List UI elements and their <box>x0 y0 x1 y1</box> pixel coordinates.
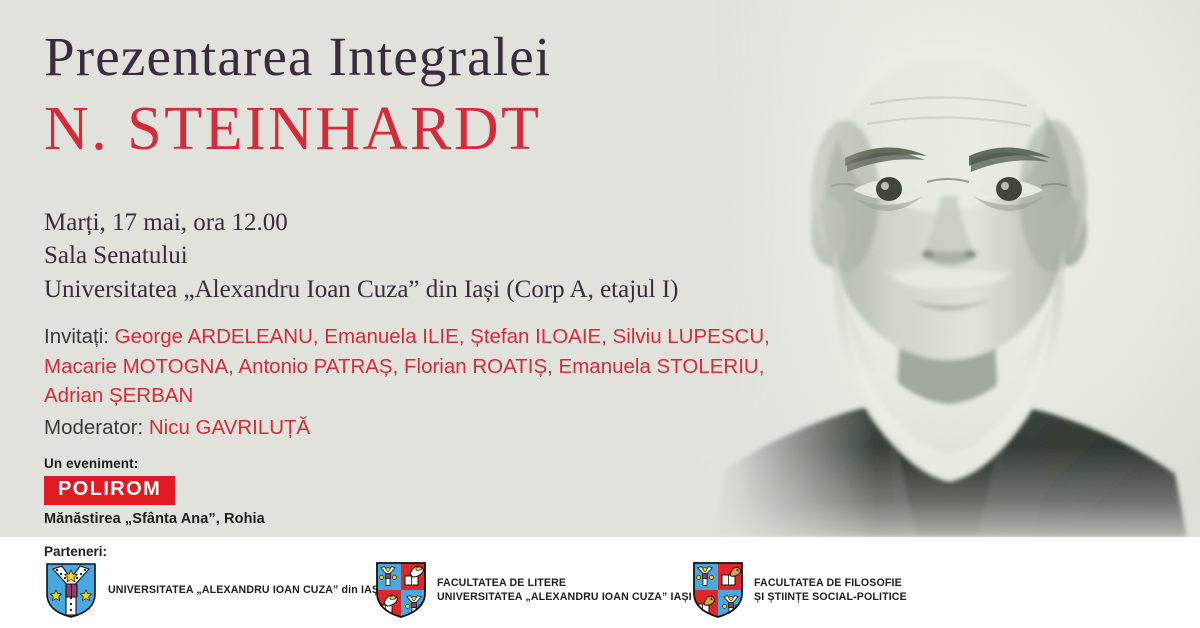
organiser-block: Un eveniment: POLIROM Mănăstirea „Sfânta… <box>44 456 265 527</box>
guests-line-2: Macarie MOTOGNA, Antonio PATRAȘ, Florian… <box>44 352 774 382</box>
uaic-coat-of-arms-icon <box>44 561 98 619</box>
participants-block: Invitați: George ARDELEANU, Emanuela ILI… <box>44 322 774 443</box>
organiser-kicker: Un eveniment: <box>44 456 265 471</box>
guests-names-1: George ARDELEANU, Emanuela ILIE, Ștefan … <box>115 325 770 348</box>
moderator-line: Moderator: Nicu GAVRILUȚĂ <box>44 413 774 443</box>
portrait-photo <box>695 0 1200 537</box>
partner-logo-philosophy: FACULTATEA DE FILOSOFIE ȘI ȘTIINȚE SOCIA… <box>692 561 907 619</box>
partner-philosophy-line1: FACULTATEA DE FILOSOFIE <box>754 577 902 589</box>
partner-logo-letters: FACULTATEA DE LITERE UNIVERSITATEA „ALEX… <box>375 561 692 619</box>
moderator-label: Moderator: <box>44 416 143 439</box>
guests-line-3: Adrian ȘERBAN <box>44 381 774 411</box>
partner-letters-text: FACULTATEA DE LITERE UNIVERSITATEA „ALEX… <box>437 576 692 604</box>
partner-uaic-text: UNIVERSITATEA „ALEXANDRU IOAN CUZA” din … <box>108 583 382 597</box>
poster-main-panel: Prezentarea Integralei N. STEINHARDT Mar… <box>0 0 1200 537</box>
event-details: Marți, 17 mai, ora 12.00 Sala Senatului … <box>44 206 679 306</box>
partner-letters-line1: FACULTATEA DE LITERE <box>437 577 566 589</box>
event-datetime: Marți, 17 mai, ora 12.00 <box>44 206 679 239</box>
guests-names-2: Macarie MOTOGNA, Antonio PATRAȘ, Florian… <box>44 355 764 378</box>
partner-uaic-line1: UNIVERSITATEA „ALEXANDRU IOAN CUZA” din … <box>108 584 382 596</box>
polirom-logo: POLIROM <box>44 476 175 505</box>
page-title-line2: N. STEINHARDT <box>44 98 541 160</box>
partner-philosophy-text: FACULTATEA DE FILOSOFIE ȘI ȘTIINȚE SOCIA… <box>754 576 907 604</box>
partners-label: Parteneri: <box>44 544 107 559</box>
guests-names-3: Adrian ȘERBAN <box>44 384 193 407</box>
faculty-of-letters-coat-of-arms-icon <box>375 561 427 619</box>
guests-label: Invitați: <box>44 325 109 348</box>
faculty-of-philosophy-coat-of-arms-icon <box>692 561 744 619</box>
page-title-line1: Prezentarea Integralei <box>44 29 551 84</box>
partners-footer: Parteneri: <box>0 537 1200 628</box>
event-address: Universitatea „Alexandru Ioan Cuza” din … <box>44 273 679 306</box>
partner-letters-line2: UNIVERSITATEA „ALEXANDRU IOAN CUZA” IAȘI <box>437 591 692 603</box>
event-venue: Sala Senatului <box>44 239 679 272</box>
poster-canvas: Prezentarea Integralei N. STEINHARDT Mar… <box>0 0 1200 628</box>
partner-logo-uaic: UNIVERSITATEA „ALEXANDRU IOAN CUZA” din … <box>44 561 382 619</box>
guests-line-1: Invitați: George ARDELEANU, Emanuela ILI… <box>44 322 774 352</box>
partner-philosophy-line2: ȘI ȘTIINȚE SOCIAL-POLITICE <box>754 591 907 603</box>
moderator-name: Nicu GAVRILUȚĂ <box>149 416 310 439</box>
co-organiser: Mănăstirea „Sfânta Ana”, Rohia <box>44 511 265 527</box>
